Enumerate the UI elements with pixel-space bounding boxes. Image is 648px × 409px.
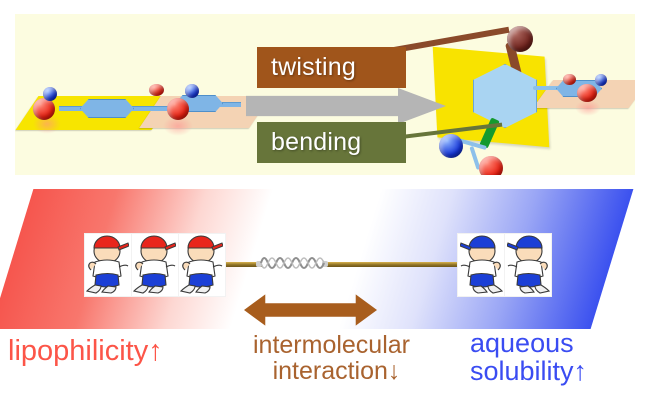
puller-blue-1 [457,233,505,297]
caption-aqueous-line2: solubility↑ [470,357,587,385]
oxygen-atom [563,74,576,85]
caption-aqueous-line1: aqueous [470,329,587,357]
top-panel-conformational-change: twisting bending [15,14,635,175]
twisted-molecule-right [411,22,635,172]
twisting-label: twisting [271,53,356,82]
nitrogen-atom [439,134,463,158]
puller-red-3 [178,233,226,297]
caption-lipophilicity: lipophilicity↑ [8,336,163,366]
puller-red-2 [131,233,179,297]
spring-icon [259,252,327,274]
oxygen-atom [479,156,503,175]
atom-shadow [575,100,601,116]
bending-label: bending [271,128,361,157]
puller-red-1 [84,233,132,297]
caption-intermolecular-line2: interaction↓ [224,358,439,384]
bromine-atom [507,26,533,52]
twisting-label-box: twisting [257,47,406,88]
oxygen-atom [167,98,189,120]
caption-lipophilicity-text: lipophilicity↑ [8,336,163,366]
oxygen-atom [149,84,164,96]
puller-blue-2 [504,233,552,297]
bending-label-box: bending [257,122,406,163]
oxygen-atom [33,98,55,120]
figure-canvas: twisting bending [0,0,648,409]
caption-intermolecular-interaction: intermolecular interaction↓ [224,332,439,384]
caption-aqueous-solubility: aqueous solubility↑ [470,329,587,385]
nitrogen-atom [185,84,199,98]
planar-molecule-left [25,70,245,150]
aromatic-ring [80,99,134,118]
oxygen-atom [577,84,597,102]
nitrogen-atom [43,87,57,101]
nitrogen-atom [595,74,607,86]
caption-intermolecular-line1: intermolecular [224,332,439,358]
